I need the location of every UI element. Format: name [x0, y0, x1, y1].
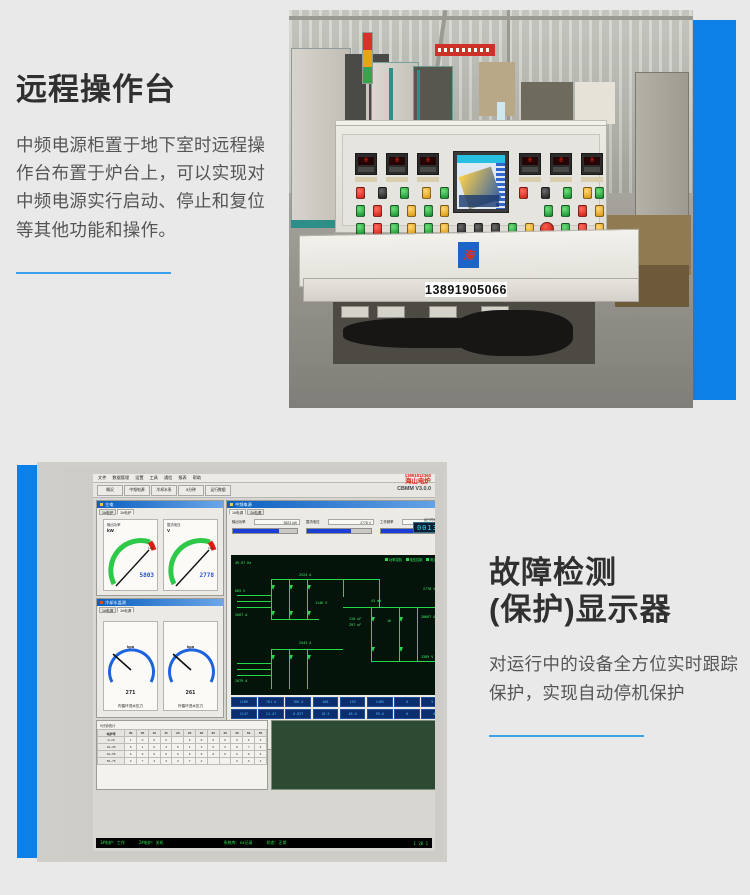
led-cell: 468	[313, 697, 339, 707]
status-furnace-2: 2#电炉：关机	[139, 840, 164, 846]
panel-button-green[interactable]	[440, 187, 449, 199]
panel-button-green[interactable]	[400, 187, 409, 199]
readout-label: 整流电压	[306, 520, 320, 524]
schematic-label: 16	[387, 619, 391, 623]
panel-button-green[interactable]	[561, 205, 570, 217]
gauge-value: 2778	[200, 572, 214, 579]
table-cell: 6	[196, 737, 208, 744]
window-tabs[interactable]: 1#电炉 2#电炉	[97, 508, 223, 515]
digital-meter[interactable]: 0	[417, 153, 439, 175]
background-clutter	[575, 82, 615, 124]
led-cell: 99.0	[367, 709, 393, 719]
console-front-panel: 0 0 0 0 0 0	[342, 134, 600, 226]
table-cell: 3	[255, 758, 267, 765]
meter-base	[581, 177, 603, 182]
meter-display: 0	[389, 157, 405, 165]
brand-name: 海山电炉	[405, 479, 431, 486]
led-cell: 766 A	[285, 697, 311, 707]
gauge-inner-loop-pressure: kpa 271 内循环进水压力	[103, 621, 158, 711]
led-cell: 0	[394, 709, 420, 719]
equipment-cabinet	[635, 72, 689, 218]
gauge-rectifier-voltage: 整流电压 V 2778 120	[163, 519, 218, 591]
tab-supply-1[interactable]: 1#电源	[99, 607, 116, 613]
meter-display: 0	[553, 157, 569, 165]
readout-label: 工作频率	[380, 520, 394, 524]
window-title: 中频电源	[235, 502, 252, 508]
table-row: 40~55 6 6 6 6 6 6 6 6 6 6 6 6	[98, 751, 267, 758]
window-titlebar[interactable]: 中频电源 _ □ ×	[227, 501, 435, 508]
meter-base	[417, 177, 439, 182]
table-cell: 6	[148, 751, 160, 758]
table-row: 0~15 1 0 0 0 6 6 6 0 9 6 6	[98, 737, 267, 744]
stack-light-red	[363, 33, 372, 50]
gauge-value: 271	[126, 690, 136, 696]
meter-base	[550, 177, 572, 182]
table-cell: 3	[160, 758, 172, 765]
led-cell: 18.3	[313, 709, 339, 719]
led-cell: 0	[394, 697, 420, 707]
table-cell: 6	[160, 751, 172, 758]
schematic-label: 2543 A	[299, 641, 311, 645]
menu-item-help[interactable]: 帮助	[193, 475, 201, 481]
schematic-wire	[343, 579, 379, 580]
table-cell: 1	[125, 737, 137, 744]
menu-item-file[interactable]: 文件	[98, 475, 106, 481]
schematic-label: 2524 A	[299, 573, 311, 577]
table-row: 50~75 3 7 3 3 3 7 2 3 3 3	[98, 758, 267, 765]
table-cell: 6	[243, 737, 255, 744]
console-under-cabling	[333, 302, 595, 364]
app-menubar[interactable]: 文件 数据管理 设置 工具 通信 报表 帮助	[93, 474, 435, 483]
table-header-cell: 35	[207, 730, 219, 737]
tab-furnace-2[interactable]: 2#电炉	[117, 509, 134, 515]
led-cell: 0.837	[285, 709, 311, 719]
toolbar-button-5min[interactable]: 5分钟	[178, 485, 204, 496]
gauge-outer-loop-pressure: kpa 261 外循环进水压力	[163, 621, 218, 711]
table-header-cell: 10	[148, 730, 160, 737]
table-header-cell: 50	[243, 730, 255, 737]
table-cell-range: 50~75	[98, 758, 125, 765]
tab-furnace-1[interactable]: 1#电炉	[99, 509, 116, 515]
menu-item-tools[interactable]: 工具	[150, 475, 158, 481]
digital-meter[interactable]: 0	[386, 153, 408, 175]
trend-panel[interactable]	[271, 720, 435, 790]
readout-bar-fill	[381, 529, 416, 533]
tab-source-2[interactable]: 2#电源	[247, 509, 264, 515]
table-cell: 6	[231, 751, 243, 758]
top-body-copy: 中频电源柜置于地下室时远程操作台布置于炉台上，可以实现对中频电源实行启动、停止和…	[16, 131, 278, 244]
hmi-screen[interactable]	[457, 155, 505, 209]
phone-overlay-top: 13891905066	[425, 282, 507, 297]
panel-button-green[interactable]	[390, 205, 399, 217]
gauge-arc	[104, 624, 159, 694]
gauge-unit: kpa	[127, 644, 134, 649]
hmi-status-block	[459, 195, 499, 207]
legend-dot	[385, 558, 388, 561]
table-cell: 0	[219, 737, 231, 744]
window-tabs[interactable]: 1#电源 2#电源	[97, 606, 223, 613]
schematic-wire	[417, 607, 418, 661]
bottom-headline-line1: 故障检测	[489, 555, 739, 592]
table-cell	[219, 758, 231, 765]
meter-display: 0	[584, 157, 600, 165]
window-titlebar[interactable]: 主电	[97, 501, 223, 508]
table-cell: 5	[125, 744, 137, 751]
top-text-block: 远程操作台 中频电源柜置于地下室时远程操作台布置于炉台上，可以实现对中频电源实行…	[16, 72, 278, 274]
readout-field: 5823 kW	[254, 519, 300, 525]
readout-bar-fill	[307, 529, 351, 533]
brand-block: 13891812360 海山电炉	[405, 474, 431, 485]
window-title: 主电	[105, 502, 113, 508]
gauge-arc	[164, 624, 219, 694]
gauge-max-label: 120	[208, 546, 213, 550]
schematic-wire	[237, 675, 271, 676]
panel-button-green[interactable]	[563, 187, 572, 199]
bottom-headline-line2: (保护)显示器	[489, 592, 739, 629]
table-header-cell: 45	[231, 730, 243, 737]
table-cell: 1	[184, 744, 196, 751]
gauge-value: 5803	[140, 572, 154, 579]
menu-item-report[interactable]: 报表	[178, 475, 186, 481]
table-header-cell: 55	[255, 730, 267, 737]
led-readout-grid: 1189 761 A 766 A 468 153 1489 0 5.0 1147…	[231, 697, 435, 719]
stack-light-green	[363, 67, 372, 84]
led-cell: 0	[421, 709, 435, 719]
table-cell: 3	[160, 744, 172, 751]
table-cell: 0	[160, 737, 172, 744]
panel-button-green[interactable]	[356, 205, 365, 217]
schematic-label: 2778 V	[423, 587, 435, 591]
table-header-cell: 25	[184, 730, 196, 737]
window-medium-frequency-power[interactable]: 中频电源 _ □ × 1#电源 2#电源 输出功率 5823 kW 整流电压	[226, 500, 435, 750]
schematic-wire	[343, 607, 435, 608]
table-cell: 6	[219, 751, 231, 758]
runtime-counter-value: 00138	[413, 522, 435, 533]
gauge-caption: 内循环进水压力	[104, 704, 157, 709]
schematic-wire	[237, 669, 271, 670]
table-cell: 6	[184, 751, 196, 758]
panel-button-yellow[interactable]	[422, 187, 431, 199]
stack-light	[362, 32, 373, 84]
table-cell: 0	[148, 737, 160, 744]
meter-display: 0	[522, 157, 538, 165]
panel-button-green[interactable]	[424, 205, 433, 217]
gauge-arc	[164, 520, 219, 592]
legend-dot	[426, 558, 429, 561]
digital-meter[interactable]: 0	[355, 153, 377, 175]
table-cell: 6	[207, 751, 219, 758]
runtime-counter-group: 运行时间 00138	[413, 517, 435, 533]
schematic-wire	[399, 607, 400, 661]
table-cell: 6	[184, 737, 196, 744]
table-cell: 3	[172, 758, 184, 765]
legend-power-control: 功率控制	[389, 558, 402, 562]
cable-bundle	[453, 310, 573, 356]
panel-button-red[interactable]	[356, 187, 365, 199]
meter-buttons[interactable]	[584, 167, 600, 172]
readout-label: 输出功率	[232, 520, 246, 524]
statistics-table: 电炉号 00 05 10 15 20 25 30 35 40 45 50	[97, 729, 267, 765]
table-cell: 6	[243, 751, 255, 758]
digital-meter[interactable]: 0	[519, 153, 541, 175]
schematic-label: 49.97 Hz	[235, 561, 251, 565]
table-cell: 0	[148, 744, 160, 751]
led-cell: 48.0	[340, 709, 366, 719]
schematic-label: 685 V	[235, 589, 245, 593]
panel-button-yellow[interactable]	[407, 205, 416, 217]
top-headline: 远程操作台	[16, 72, 278, 109]
bottom-text-block: 故障检测 (保护)显示器 对运行中的设备全方位实时跟踪保护，实现自动停机保护	[489, 555, 739, 737]
console-cabinet: 0 0 0 0 0 0	[335, 125, 607, 233]
hmi-titlebar	[457, 155, 505, 163]
meter-buttons[interactable]	[553, 167, 569, 172]
schematic-wire	[237, 601, 271, 602]
table-cell: 2	[196, 758, 208, 765]
toolbar-button-power[interactable]: 中频电源	[124, 485, 150, 496]
schematic-wire	[371, 607, 372, 661]
schematic-label: 297 uF	[349, 623, 361, 627]
readout-bar-fill	[233, 529, 279, 533]
terminal-block	[341, 306, 369, 318]
panel-button-green[interactable]	[544, 205, 553, 217]
led-cell: 5.0	[421, 697, 435, 707]
readout-output-power: 输出功率 5823 kW	[232, 519, 302, 534]
schematic-wire	[271, 579, 343, 580]
table-cell: 3	[243, 758, 255, 765]
schematic-wire	[379, 579, 380, 607]
table-cell: 3	[125, 758, 137, 765]
panel-button-yellow[interactable]	[595, 205, 604, 217]
background-clutter	[521, 82, 573, 122]
terminal-block	[377, 306, 405, 318]
toolbar-button-cooling[interactable]: 冷却水系	[151, 485, 177, 496]
table-cell: 6	[255, 737, 267, 744]
table-cell: 6	[125, 751, 137, 758]
meter-buttons[interactable]	[420, 167, 436, 172]
toolbar-button-overview[interactable]: 概况	[97, 485, 123, 496]
schematic-wire	[237, 595, 271, 596]
accent-bar-top-right	[692, 20, 736, 400]
gauge-unit: kpa	[187, 644, 194, 649]
table-cell: 3	[196, 744, 208, 751]
window-icon	[230, 503, 233, 506]
window-main-power[interactable]: 主电 1#电炉 2#电炉 输出功率 kW 5803 120	[96, 500, 224, 596]
schematic-legend: 功率控制 电压控制 电流控制	[385, 557, 435, 562]
table-cell: 6	[207, 737, 219, 744]
schematic-wire	[343, 579, 344, 597]
table-header-cell: 15	[160, 730, 172, 737]
gauge-output-power: 输出功率 kW 5803 120	[103, 519, 158, 591]
gauge-arc	[104, 520, 159, 592]
gauge-value: 261	[186, 690, 196, 696]
roof-beam	[289, 16, 693, 20]
readout-rectifier-voltage: 整流电压 2778 V	[306, 519, 376, 534]
gauge-max-label: 120	[148, 546, 153, 550]
digital-meter[interactable]: 0	[581, 153, 603, 175]
legend-dot	[406, 558, 409, 561]
led-cell: 1147	[231, 709, 257, 719]
schematic-wire	[237, 663, 271, 664]
table-cell: 3	[231, 758, 243, 765]
schematic-label: 1389 V	[421, 655, 433, 659]
table-row: 20~35 5 1 0 3 5 1 3 5 3 9 7 4	[98, 744, 267, 751]
photo-scada-monitor: 文件 数据管理 设置 工具 通信 报表 帮助 概况 中频电源 冷却水系 5分钟 …	[37, 462, 447, 862]
menu-item-settings[interactable]: 设置	[135, 475, 143, 481]
table-cell: 1	[137, 744, 149, 751]
table-cell	[207, 758, 219, 765]
table-cell: 3	[148, 758, 160, 765]
meter-display: 0	[358, 157, 374, 165]
monitor-screen[interactable]: 文件 数据管理 设置 工具 通信 报表 帮助 概况 中频电源 冷却水系 5分钟 …	[93, 474, 435, 851]
table-cell: 6	[255, 751, 267, 758]
table-header-cell: 20	[172, 730, 184, 737]
table-cell-range: 40~55	[98, 751, 125, 758]
panel-button-black[interactable]	[378, 187, 387, 199]
meter-buttons[interactable]	[522, 167, 538, 172]
tab-source-1[interactable]: 1#电源	[229, 509, 246, 515]
single-line-schematic: 49.97 Hz 685 V 2667 A 2524 A 1146 V 2543…	[231, 555, 435, 695]
panel-button-black[interactable]	[541, 187, 550, 199]
status-furnace-1: 1#电炉：工作	[100, 840, 125, 846]
led-cell: 1489	[367, 697, 393, 707]
table-cell	[172, 737, 184, 744]
schematic-wire	[371, 661, 435, 662]
window-title: 冷却水监测	[105, 600, 126, 606]
top-accent-rule	[16, 272, 171, 274]
window-icon	[100, 503, 103, 506]
hmi-touch-panel[interactable]	[453, 151, 509, 213]
table-cell: 4	[255, 744, 267, 751]
table-cell-range: 0~15	[98, 737, 125, 744]
window-tabs[interactable]: 1#电源 2#电源	[227, 508, 435, 515]
panel-button-red[interactable]	[373, 205, 382, 217]
table-header-cell: 30	[196, 730, 208, 737]
stack-light-yellow	[363, 50, 372, 67]
readout-field: 2778 V	[328, 519, 374, 525]
schematic-label: 1146 V	[315, 601, 327, 605]
table-cell: 6	[172, 751, 184, 758]
table-cell: 6	[196, 751, 208, 758]
meter-buttons[interactable]	[358, 167, 374, 172]
meter-buttons[interactable]	[389, 167, 405, 172]
table-header-cell: 40	[219, 730, 231, 737]
app-version: CBMM V3.0.0	[397, 486, 431, 492]
table-cell: 6	[137, 751, 149, 758]
background-clutter	[497, 102, 505, 120]
brand-logo-badge: 海	[458, 242, 479, 268]
toolbar-button-runtime[interactable]: 运行数据	[205, 485, 231, 496]
table-cell: 7	[184, 758, 196, 765]
table-cell: 7	[243, 744, 255, 751]
panel-button-yellow[interactable]	[440, 205, 449, 217]
window-5min-statistics[interactable]: 5分钟统计 电炉号 00 05 10 15 20 25 30 35	[96, 720, 268, 790]
app-statusbar: 1#电炉：工作 2#电炉：关机 系统库：ex记录 状态：正常 1 20 1	[96, 838, 432, 848]
panel-button-red[interactable]	[519, 187, 528, 199]
led-cell: 11.47	[258, 709, 284, 719]
window-cooling-water[interactable]: 冷却水监测 1#电源 2#电源 kpa 271 内循环进水压力	[96, 598, 224, 718]
table-cell: 3	[219, 744, 231, 751]
tab-supply-2[interactable]: 2#电源	[117, 607, 134, 613]
table-header-cell: 05	[137, 730, 149, 737]
meter-base	[386, 177, 408, 182]
menu-item-data[interactable]: 数据管理	[112, 475, 129, 481]
schematic-label: 20667 A	[421, 615, 435, 619]
status-db: 系统库：ex记录	[224, 840, 253, 846]
table-cell: 9	[231, 737, 243, 744]
legend-current-control: 电流控制	[430, 558, 435, 562]
panel-button-green[interactable]	[595, 187, 604, 199]
readout-bar	[232, 528, 298, 534]
table-cell: 9	[231, 744, 243, 751]
panel-button-red[interactable]	[578, 205, 587, 217]
table-cell: 5	[207, 744, 219, 751]
led-cell: 1189	[231, 697, 257, 707]
table-cell-range: 20~35	[98, 744, 125, 751]
panel-button-yellow[interactable]	[583, 187, 592, 199]
meter-display: 0	[420, 157, 436, 165]
table-header-cell: 00	[125, 730, 137, 737]
schematic-wire	[271, 619, 319, 620]
table-cell: 0	[137, 737, 149, 744]
photo-remote-console: 0 0 0 0 0 0	[289, 10, 693, 408]
table-header-row: 电炉号 00 05 10 15 20 25 30 35 40 45 50	[98, 730, 267, 737]
table-title: 5分钟统计	[97, 721, 267, 729]
schematic-label: 110 uF	[349, 617, 361, 621]
window-titlebar[interactable]: 冷却水监测	[97, 599, 223, 606]
led-cell: 153	[340, 697, 366, 707]
safety-sign	[435, 44, 495, 56]
menu-item-comm[interactable]: 通信	[164, 475, 172, 481]
table-cell: 5	[172, 744, 184, 751]
legend-voltage-control: 电压控制	[410, 558, 423, 562]
table-header-cell: 电炉号	[98, 730, 125, 737]
bottom-accent-rule	[489, 735, 644, 737]
bottom-body-copy: 对运行中的设备全方位实时跟踪保护，实现自动停机保护	[489, 650, 739, 707]
table-cell: 7	[137, 758, 149, 765]
monitor-bezel: 文件 数据管理 设置 工具 通信 报表 帮助 概况 中频电源 冷却水系 5分钟 …	[63, 466, 443, 859]
schematic-wire	[237, 607, 271, 608]
app-toolbar[interactable]: 概况 中频电源 冷却水系 5分钟 运行数据	[93, 483, 435, 498]
schematic-label: 2667 A	[235, 613, 247, 617]
status-counts: 1 20 1	[414, 841, 428, 846]
digital-meter[interactable]: 0	[550, 153, 572, 175]
meter-base	[355, 177, 377, 182]
status-state: 状态：正常	[266, 840, 286, 846]
led-cell: 761 A	[258, 697, 284, 707]
readout-bar	[306, 528, 372, 534]
schematic-label: 2079 A	[235, 679, 247, 683]
gauge-caption: 外循环进水压力	[164, 704, 217, 709]
window-icon	[100, 601, 103, 604]
terminal-block	[429, 306, 457, 318]
meter-base	[519, 177, 541, 182]
section-remote-console: 远程操作台 中频电源柜置于地下室时远程操作台布置于炉台上，可以实现对中频电源实行…	[0, 0, 750, 440]
